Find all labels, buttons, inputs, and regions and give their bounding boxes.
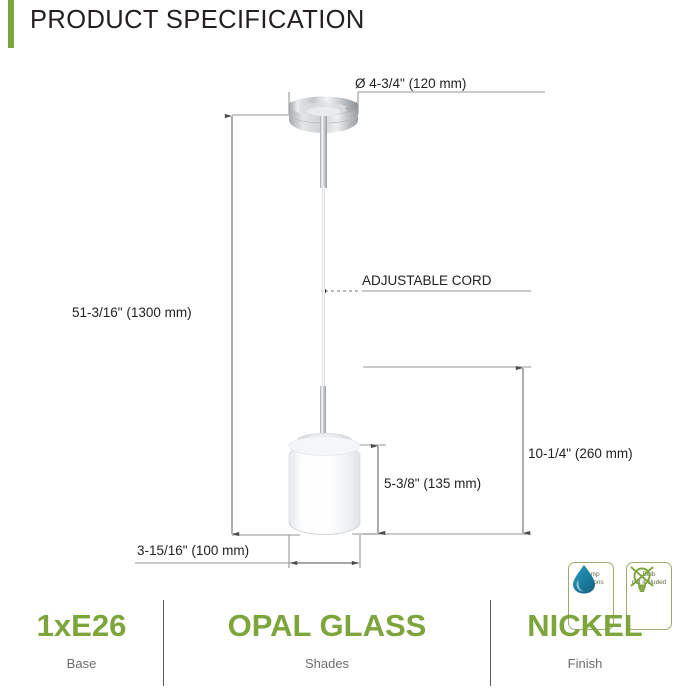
water-droplet-icon [569,563,599,595]
spec-base-label: Base [0,656,163,671]
drawing-svg [0,56,679,596]
dimension-lines [232,103,523,563]
spec-column-shades: OPAL GLASS Shades [164,596,490,690]
dim-shade-width: 3-15/16" (100 mm) [137,543,249,558]
spec-finish-value: NICKEL [491,608,679,644]
spec-finish-label: Finish [491,656,679,671]
spec-column-finish: NICKEL Finish [491,596,679,690]
bulb-crossed-out-icon [627,563,657,595]
spec-base-value: 1xE26 [0,608,163,644]
header: PRODUCT SPECIFICATION [0,0,679,56]
dim-fixture-drop: 10-1/4" (260 mm) [528,446,633,461]
cord-callout-leader [322,289,360,294]
dim-canopy-diameter: Ø 4-3/4" (120 mm) [355,76,466,91]
opal-glass-shade [289,437,360,535]
pendant-light-illustration [289,97,360,535]
callout-adjustable-cord: ADJUSTABLE CORD [362,273,492,288]
title-accent-bar [8,0,14,48]
spec-shades-label: Shades [164,656,490,671]
lower-stem [320,386,326,436]
specification-summary-row: 1xE26 Base OPAL GLASS Shades NICKEL Fini… [0,596,679,690]
spec-shades-value: OPAL GLASS [164,608,490,644]
spec-column-base: 1xE26 Base [0,596,163,690]
dim-overall-height: 51-3/16" (1300 mm) [72,305,192,320]
dim-shade-height: 5-3/8" (135 mm) [384,476,481,491]
upper-stem [320,116,327,188]
product-drawing: Ø 4-3/4" (120 mm) 51-3/16" (1300 mm) ADJ… [0,56,679,596]
page-title: PRODUCT SPECIFICATION [30,6,365,35]
